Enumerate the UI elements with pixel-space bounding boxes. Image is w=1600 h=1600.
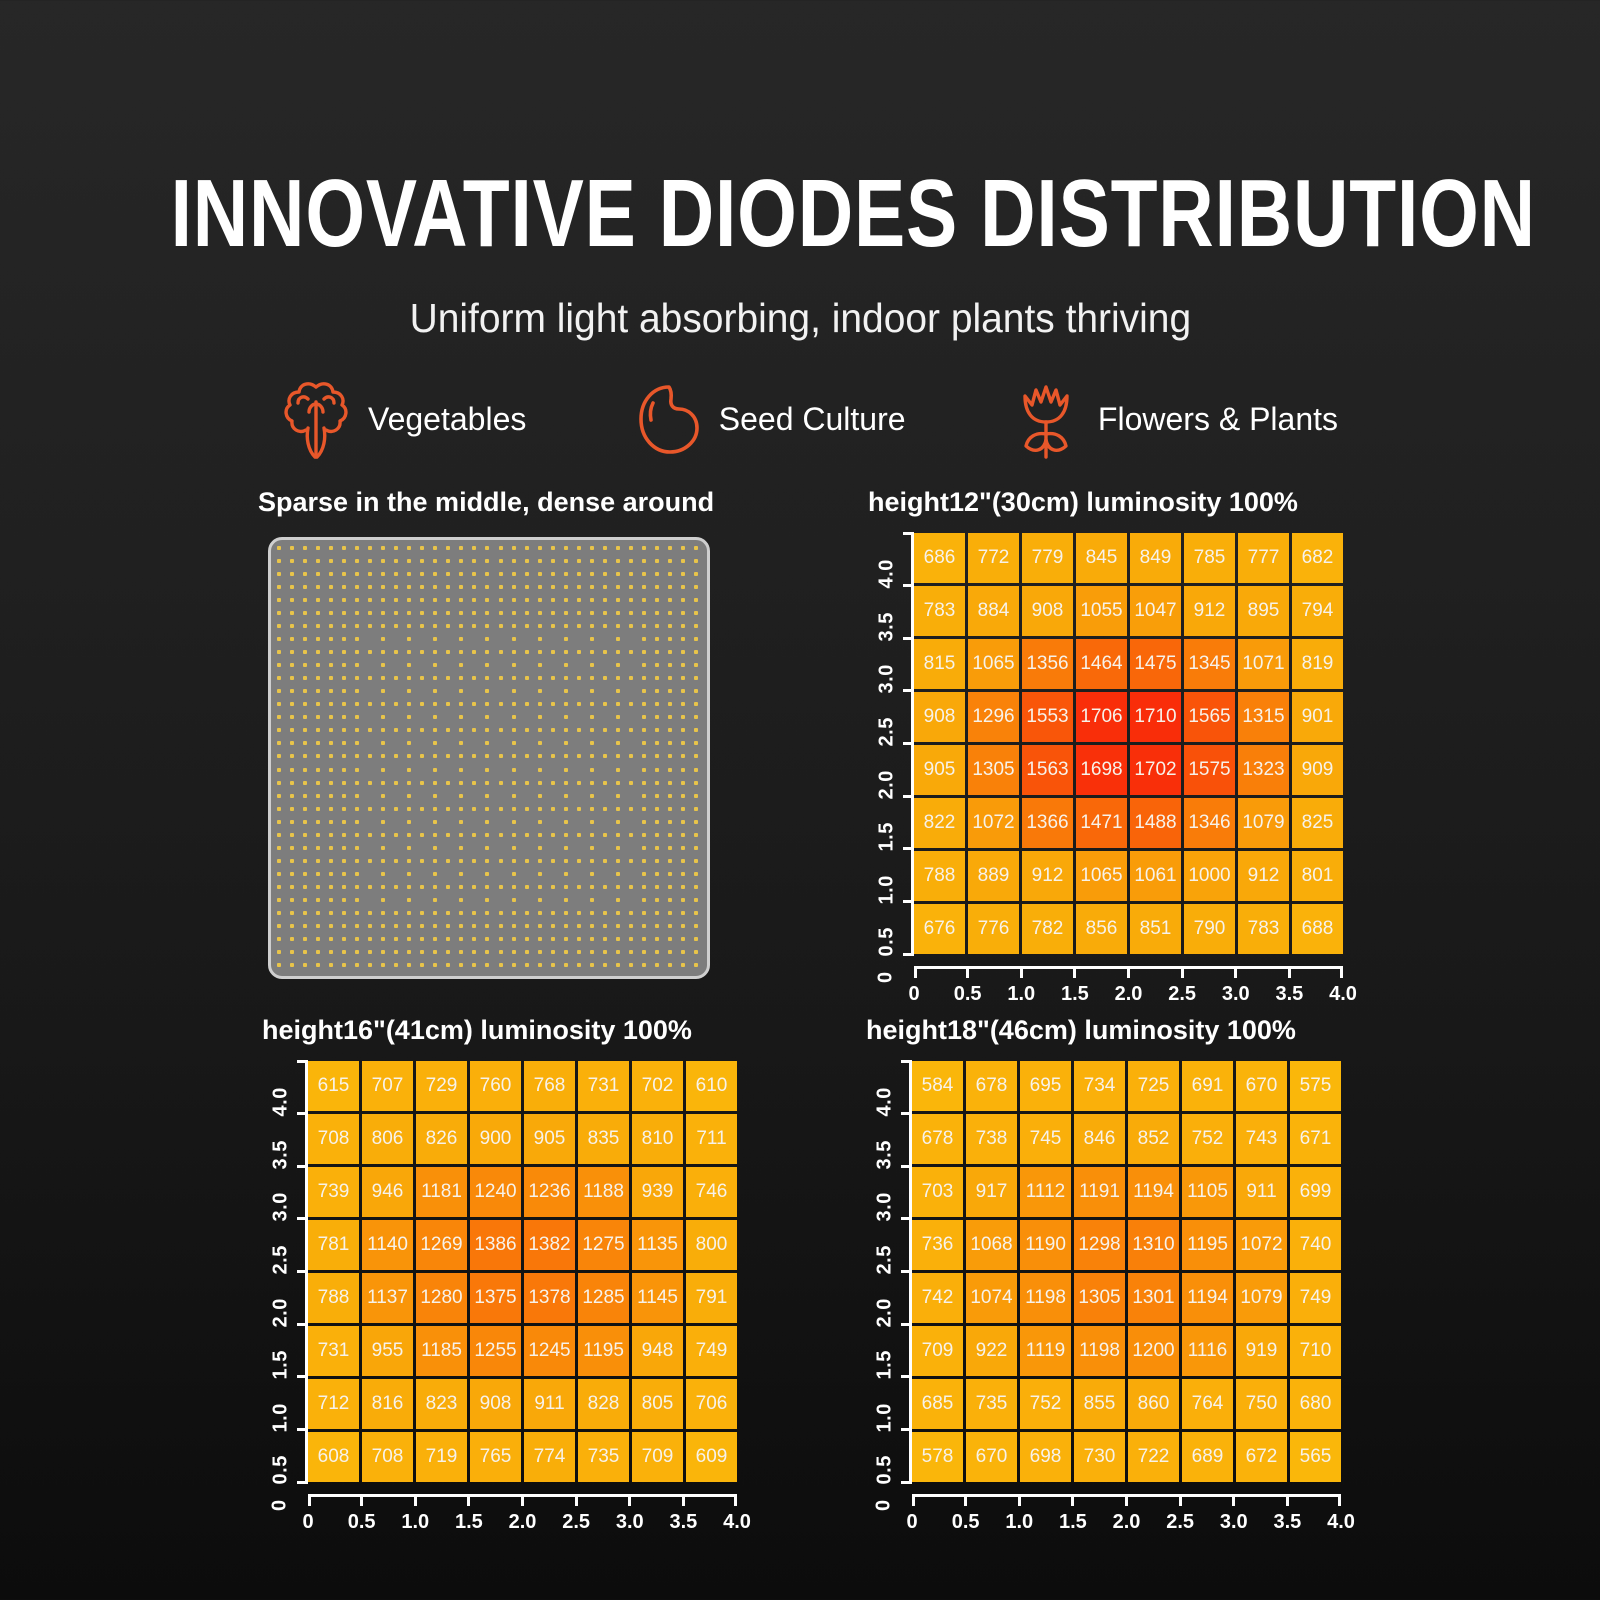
heatmap-cell: 672 xyxy=(1236,1432,1287,1482)
x-axis-tick xyxy=(360,1494,363,1506)
page-title: INNOVATIVE DIODES DISTRIBUTION xyxy=(0,166,1600,262)
led-diode xyxy=(433,715,437,719)
x-axis-tick xyxy=(1020,966,1023,978)
led-diode xyxy=(629,937,633,941)
led-diode xyxy=(355,715,359,719)
heatmap-cell: 710 xyxy=(1290,1326,1341,1376)
led-diode xyxy=(499,728,503,732)
led-diode xyxy=(512,676,516,680)
led-diode xyxy=(342,924,346,928)
led-diode xyxy=(694,650,698,654)
led-diode xyxy=(394,976,398,979)
led-diode xyxy=(694,624,698,628)
chart1-heatmap-grid: 6867727798458497857776827838849081055104… xyxy=(914,533,1343,954)
heatmap-cell: 1194 xyxy=(1182,1273,1233,1323)
led-diode xyxy=(459,572,463,576)
led-diode xyxy=(499,859,503,863)
heatmap-cell: 805 xyxy=(632,1379,683,1429)
heatmap-cell: 752 xyxy=(1182,1114,1233,1164)
led-diode xyxy=(707,872,710,876)
led-diode xyxy=(525,676,529,680)
led-diode xyxy=(525,859,529,863)
y-axis-tick-label: 3.5 xyxy=(873,1140,896,1169)
led-diode xyxy=(694,702,698,706)
led-diode xyxy=(316,611,320,615)
led-diode xyxy=(368,624,372,628)
x-axis-tick xyxy=(1073,966,1076,978)
led-diode xyxy=(433,611,437,615)
led-diode xyxy=(538,572,542,576)
led-diode xyxy=(512,624,516,628)
led-diode xyxy=(420,937,424,941)
led-diode xyxy=(694,598,698,602)
led-diode xyxy=(551,754,555,758)
led-diode xyxy=(459,637,463,641)
heatmap-cell: 1119 xyxy=(1020,1326,1071,1376)
led-diode xyxy=(616,676,620,680)
led-diode xyxy=(459,937,463,941)
led-diode xyxy=(564,859,568,863)
y-axis-tick xyxy=(901,1375,912,1378)
led-diode xyxy=(564,976,568,979)
led-diode xyxy=(290,963,294,967)
heatmap-cell: 1188 xyxy=(578,1167,629,1217)
led-diode xyxy=(394,963,398,967)
led-diode xyxy=(616,715,620,719)
led-diode xyxy=(655,702,659,706)
led-diode xyxy=(694,937,698,941)
heatmap-cell: 703 xyxy=(912,1167,963,1217)
led-diode xyxy=(303,963,307,967)
led-diode xyxy=(407,911,411,915)
led-diode xyxy=(590,820,594,824)
heatmap-cell: 676 xyxy=(914,904,965,954)
led-diode xyxy=(551,611,555,615)
led-diode xyxy=(629,598,633,602)
led-diode xyxy=(459,624,463,628)
led-diode xyxy=(394,781,398,785)
led-diode xyxy=(668,768,672,772)
x-axis-tick-label: 1.5 xyxy=(1059,1511,1087,1534)
y-axis-tick-label: 2.5 xyxy=(269,1245,292,1274)
led-diode xyxy=(512,846,516,850)
led-diode xyxy=(642,676,646,680)
led-diode xyxy=(329,937,333,941)
heatmap-cell: 688 xyxy=(1292,904,1343,954)
led-diode xyxy=(564,781,568,785)
led-diode xyxy=(694,911,698,915)
led-diode xyxy=(668,559,672,563)
led-diode xyxy=(485,976,489,979)
led-diode xyxy=(407,650,411,654)
heatmap-cell: 1140 xyxy=(362,1220,413,1270)
heatmap-cell: 819 xyxy=(1292,639,1343,689)
led-diode xyxy=(655,728,659,732)
led-diode xyxy=(707,585,710,589)
led-diode xyxy=(538,663,542,667)
led-diode xyxy=(355,885,359,889)
led-diode xyxy=(564,833,568,837)
led-diode xyxy=(394,546,398,550)
led-diode xyxy=(368,572,372,576)
led-diode xyxy=(590,768,594,772)
x-axis-tick-label: 3.5 xyxy=(1275,983,1303,1006)
led-diode xyxy=(655,572,659,576)
led-diode xyxy=(616,572,620,576)
led-diode xyxy=(655,859,659,863)
led-diode xyxy=(564,898,568,902)
led-diode xyxy=(420,950,424,954)
led-diode xyxy=(329,898,333,902)
led-diode xyxy=(459,611,463,615)
y-axis-tick-label: 3.0 xyxy=(873,1192,896,1221)
led-diode xyxy=(446,702,450,706)
led-diode xyxy=(525,781,529,785)
led-diode xyxy=(577,572,581,576)
led-diode xyxy=(655,741,659,745)
led-diode xyxy=(433,585,437,589)
heatmap-cell: 1386 xyxy=(470,1220,521,1270)
led-diode xyxy=(381,911,385,915)
heatmap-cell: 1296 xyxy=(968,692,1019,742)
led-diode xyxy=(551,859,555,863)
led-diode xyxy=(694,689,698,693)
led-diode xyxy=(564,820,568,824)
led-diode xyxy=(355,794,359,798)
led-diode xyxy=(629,754,633,758)
led-diode xyxy=(407,937,411,941)
heatmap-cell: 719 xyxy=(416,1432,467,1482)
led-diode xyxy=(303,859,307,863)
led-diode xyxy=(316,598,320,602)
y-axis-tick-label: 1.0 xyxy=(269,1403,292,1432)
led-diode xyxy=(342,833,346,837)
heatmap-cell: 1310 xyxy=(1128,1220,1179,1270)
heatmap-cell: 1305 xyxy=(1074,1273,1125,1323)
led-diode xyxy=(525,833,529,837)
led-diode xyxy=(407,781,411,785)
led-diode xyxy=(590,846,594,850)
led-diode xyxy=(446,781,450,785)
led-diode xyxy=(420,572,424,576)
led-diode xyxy=(433,859,437,863)
led-diode xyxy=(577,702,581,706)
heatmap-cell: 750 xyxy=(1236,1379,1287,1429)
led-diode xyxy=(694,715,698,719)
led-diode xyxy=(290,833,294,837)
led-diode xyxy=(381,820,385,824)
chart3-y-axis: 00.51.01.52.02.53.03.54.0 xyxy=(866,1061,912,1482)
led-diode xyxy=(551,937,555,941)
led-diode xyxy=(485,611,489,615)
y-axis-tick-label: 2.5 xyxy=(873,1245,896,1274)
heatmap-cell: 1382 xyxy=(524,1220,575,1270)
heatmap-cell: 736 xyxy=(912,1220,963,1270)
led-diode xyxy=(616,559,620,563)
led-diode xyxy=(342,859,346,863)
led-diode xyxy=(342,650,346,654)
led-diode xyxy=(577,950,581,954)
led-diode xyxy=(590,885,594,889)
led-diode xyxy=(668,820,672,824)
led-diode xyxy=(512,833,516,837)
led-diode xyxy=(472,676,476,680)
led-diode xyxy=(616,741,620,745)
led-diode xyxy=(707,768,710,772)
led-diode xyxy=(655,676,659,680)
led-diode xyxy=(277,728,281,732)
x-axis-tick xyxy=(1179,1494,1182,1506)
led-diode xyxy=(459,950,463,954)
led-diode xyxy=(394,937,398,941)
led-diode xyxy=(459,820,463,824)
led-diode xyxy=(290,637,294,641)
led-diode xyxy=(420,611,424,615)
led-diode xyxy=(577,598,581,602)
led-diode xyxy=(290,976,294,979)
led-panel xyxy=(268,537,710,979)
led-diode xyxy=(433,559,437,563)
led-diode xyxy=(707,624,710,628)
led-diode xyxy=(485,559,489,563)
led-diode xyxy=(485,663,489,667)
led-diode xyxy=(459,807,463,811)
led-diode xyxy=(616,546,620,550)
x-axis-tick xyxy=(964,1494,967,1506)
led-diode xyxy=(355,859,359,863)
led-diode xyxy=(381,611,385,615)
led-diode xyxy=(499,624,503,628)
led-diode xyxy=(629,559,633,563)
led-diode xyxy=(290,859,294,863)
x-axis-tick-label: 1.5 xyxy=(1061,983,1089,1006)
led-diode xyxy=(485,754,489,758)
led-diode xyxy=(590,898,594,902)
led-diode xyxy=(381,689,385,693)
led-diode xyxy=(316,820,320,824)
heatmap-cell: 1710 xyxy=(1130,692,1181,742)
led-diode xyxy=(616,624,620,628)
led-diode xyxy=(433,650,437,654)
led-diode xyxy=(525,937,529,941)
heatmap-cell: 846 xyxy=(1074,1114,1125,1164)
led-diode xyxy=(655,872,659,876)
led-diode xyxy=(485,963,489,967)
led-diode xyxy=(564,702,568,706)
heatmap-cell: 691 xyxy=(1182,1061,1233,1111)
led-diode xyxy=(433,924,437,928)
led-diode xyxy=(277,794,281,798)
led-diode xyxy=(329,807,333,811)
y-axis-tick xyxy=(297,1323,308,1326)
led-diode xyxy=(303,911,307,915)
led-diode xyxy=(499,963,503,967)
led-diode xyxy=(538,976,542,979)
led-diode xyxy=(512,559,516,563)
led-diode xyxy=(485,585,489,589)
heatmap-cell: 908 xyxy=(914,692,965,742)
heatmap-cell: 1471 xyxy=(1076,798,1127,848)
y-axis-tick xyxy=(901,1270,912,1273)
led-diode xyxy=(316,650,320,654)
heatmap-cell: 908 xyxy=(470,1379,521,1429)
led-diode xyxy=(355,781,359,785)
led-diode xyxy=(355,768,359,772)
led-diode xyxy=(472,559,476,563)
led-diode xyxy=(420,624,424,628)
led-diode xyxy=(538,728,542,732)
led-diode xyxy=(277,937,281,941)
led-diode xyxy=(590,702,594,706)
led-diode xyxy=(290,715,294,719)
led-diode xyxy=(381,572,385,576)
led-diode xyxy=(290,611,294,615)
led-diode xyxy=(512,715,516,719)
led-diode xyxy=(538,807,542,811)
x-axis-tick xyxy=(1181,966,1184,978)
led-diode xyxy=(290,728,294,732)
heatmap-cell: 1194 xyxy=(1128,1167,1179,1217)
led-diode xyxy=(642,781,646,785)
y-axis-tick xyxy=(901,1323,912,1326)
heatmap-cell: 708 xyxy=(308,1114,359,1164)
led-diode xyxy=(485,572,489,576)
led-diode xyxy=(446,728,450,732)
heatmap-cell: 1000 xyxy=(1184,851,1235,901)
led-diode xyxy=(616,585,620,589)
led-diode xyxy=(590,781,594,785)
led-diode xyxy=(485,872,489,876)
led-diode xyxy=(616,963,620,967)
led-diode xyxy=(564,689,568,693)
led-diode xyxy=(342,728,346,732)
led-diode xyxy=(694,728,698,732)
led-diode xyxy=(303,663,307,667)
led-diode xyxy=(290,846,294,850)
heatmap-cell: 575 xyxy=(1290,1061,1341,1111)
led-diode xyxy=(407,585,411,589)
led-diode xyxy=(590,689,594,693)
led-diode xyxy=(655,585,659,589)
led-diode xyxy=(316,663,320,667)
led-diode xyxy=(277,715,281,719)
led-diode xyxy=(342,741,346,745)
heatmap-cell: 1191 xyxy=(1074,1167,1125,1217)
led-diode xyxy=(603,950,607,954)
y-axis-tick-label: 3.0 xyxy=(269,1192,292,1221)
heatmap-cell: 670 xyxy=(1236,1061,1287,1111)
led-diode xyxy=(681,950,685,954)
led-diode xyxy=(329,637,333,641)
led-diode xyxy=(564,741,568,745)
x-axis-tick xyxy=(734,1494,737,1506)
led-diode xyxy=(551,728,555,732)
led-diode xyxy=(564,872,568,876)
led-diode xyxy=(564,650,568,654)
heatmap-cell: 895 xyxy=(1238,586,1289,636)
led-diode xyxy=(485,624,489,628)
heatmap-cell: 1285 xyxy=(578,1273,629,1323)
led-diode xyxy=(707,833,710,837)
led-diode xyxy=(407,715,411,719)
x-axis-tick-label: 3.0 xyxy=(1220,1511,1248,1534)
heatmap-cell: 1135 xyxy=(632,1220,683,1270)
led-diode xyxy=(407,728,411,732)
led-diode xyxy=(368,650,372,654)
led-diode xyxy=(355,559,359,563)
led-diode xyxy=(329,689,333,693)
heatmap-cell: 849 xyxy=(1130,533,1181,583)
led-diode xyxy=(564,637,568,641)
heatmap-cell: 1240 xyxy=(470,1167,521,1217)
led-diode xyxy=(681,846,685,850)
led-diode xyxy=(433,950,437,954)
heatmap-cell: 1047 xyxy=(1130,586,1181,636)
led-diode xyxy=(655,715,659,719)
led-diode xyxy=(642,768,646,772)
broccoli-icon xyxy=(278,378,354,460)
led-diode xyxy=(512,794,516,798)
led-diode xyxy=(420,650,424,654)
y-axis-tick xyxy=(901,1217,912,1220)
led-diode xyxy=(394,650,398,654)
heatmap-cell: 1190 xyxy=(1020,1220,1071,1270)
led-diode xyxy=(355,676,359,680)
led-diode xyxy=(655,559,659,563)
led-diode xyxy=(316,637,320,641)
led-diode xyxy=(694,559,698,563)
led-diode xyxy=(681,572,685,576)
led-diode xyxy=(538,911,542,915)
led-diode xyxy=(642,663,646,667)
led-diode xyxy=(277,559,281,563)
heatmap-cell: 743 xyxy=(1236,1114,1287,1164)
led-diode xyxy=(629,572,633,576)
led-diode xyxy=(668,911,672,915)
heatmap-cell: 609 xyxy=(686,1432,737,1482)
led-diode xyxy=(655,898,659,902)
led-diode xyxy=(642,924,646,928)
led-diode xyxy=(381,546,385,550)
led-diode xyxy=(590,663,594,667)
heatmap-cell: 1068 xyxy=(966,1220,1017,1270)
led-diode xyxy=(420,598,424,602)
led-diode xyxy=(642,585,646,589)
heatmap-cell: 695 xyxy=(1020,1061,1071,1111)
heatmap-cell: 815 xyxy=(914,639,965,689)
led-diode xyxy=(551,833,555,837)
led-diode xyxy=(603,924,607,928)
x-axis-tick xyxy=(1340,966,1343,978)
led-diode xyxy=(381,650,385,654)
led-diode xyxy=(668,898,672,902)
led-diode xyxy=(538,768,542,772)
led-diode xyxy=(512,611,516,615)
led-diode xyxy=(642,598,646,602)
led-diode xyxy=(433,663,437,667)
led-diode xyxy=(655,546,659,550)
led-diode xyxy=(303,807,307,811)
led-diode xyxy=(694,885,698,889)
led-diode xyxy=(290,598,294,602)
led-diode xyxy=(277,976,281,979)
led-diode xyxy=(616,598,620,602)
led-diode xyxy=(433,754,437,758)
led-diode xyxy=(694,859,698,863)
led-diode xyxy=(629,976,633,979)
led-diode xyxy=(512,937,516,941)
led-diode xyxy=(629,702,633,706)
